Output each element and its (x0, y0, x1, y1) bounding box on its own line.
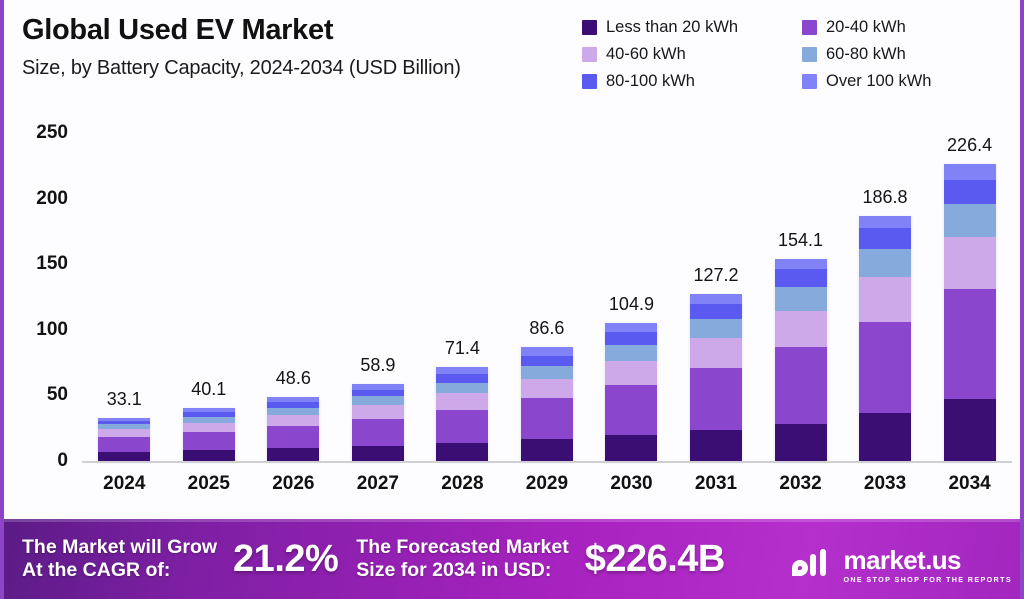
stacked-bar[interactable] (183, 408, 235, 461)
bar-segment-1[interactable] (98, 437, 150, 452)
bar-segment-2[interactable] (436, 393, 488, 409)
bar-total-label: 48.6 (251, 368, 335, 389)
bar-total-label: 154.1 (759, 230, 843, 251)
y-axis-tick-100: 100 (36, 319, 68, 341)
bar-segment-1[interactable] (521, 398, 573, 439)
bar-segment-3[interactable] (267, 408, 319, 415)
bar-segment-2[interactable] (521, 379, 573, 399)
x-axis-tick-2031: 2031 (674, 473, 758, 507)
chart-legend: Less than 20 kWh20-40 kWh40-60 kWh60-80 … (582, 14, 1012, 95)
bar-segment-0[interactable] (775, 424, 827, 461)
bar-total-label: 186.8 (843, 187, 927, 208)
bar-total-label: 58.9 (336, 355, 420, 376)
bar-segment-0[interactable] (859, 413, 911, 461)
legend-item-3[interactable]: 60-80 kWh (802, 41, 1008, 68)
bar-segment-3[interactable] (436, 383, 488, 394)
stacked-bar[interactable] (267, 397, 319, 461)
x-axis-tick-2025: 2025 (167, 473, 251, 507)
bar-total-label: 104.9 (589, 294, 673, 315)
axis-baseline (82, 461, 1012, 463)
legend-label: 20-40 kWh (826, 18, 906, 37)
bar-segment-4[interactable] (352, 390, 404, 397)
footer-banner: The Market will Grow At the CAGR of: 21.… (4, 519, 1024, 599)
bar-segment-2[interactable] (183, 423, 235, 432)
bar-segment-4[interactable] (605, 332, 657, 344)
legend-swatch-icon (582, 74, 597, 89)
bar-total-label: 71.4 (420, 338, 504, 359)
bar-segment-1[interactable] (944, 289, 996, 399)
legend-label: Over 100 kWh (826, 72, 931, 91)
bar-segment-4[interactable] (521, 356, 573, 366)
bar-segment-2[interactable] (775, 311, 827, 347)
bar-segment-0[interactable] (521, 439, 573, 461)
legend-label: 60-80 kWh (826, 45, 906, 64)
bar-segment-3[interactable] (859, 249, 911, 278)
legend-swatch-icon (802, 20, 817, 35)
bar-segment-4[interactable] (436, 374, 488, 382)
stacked-bar[interactable] (521, 347, 573, 461)
bar-segment-5[interactable] (859, 216, 911, 228)
bar-column-2028[interactable]: 71.4 (420, 133, 504, 461)
bar-total-label: 33.1 (82, 389, 166, 410)
bar-segment-3[interactable] (944, 204, 996, 237)
bar-segment-1[interactable] (436, 410, 488, 443)
bar-segment-2[interactable] (859, 277, 911, 322)
bar-column-2025[interactable]: 40.1 (167, 133, 251, 461)
stacked-bar[interactable] (690, 294, 742, 461)
cagr-caption-line2: At the CAGR of: (22, 559, 217, 582)
bar-segment-2[interactable] (944, 237, 996, 289)
bar-segment-0[interactable] (183, 450, 235, 461)
bar-segment-4[interactable] (690, 304, 742, 319)
bar-segment-2[interactable] (98, 429, 150, 436)
stacked-bar[interactable] (605, 323, 657, 461)
forecast-caption-line1: The Forecasted Market (356, 536, 568, 559)
page-title: Global Used EV Market (22, 14, 333, 47)
x-axis-tick-2029: 2029 (505, 473, 589, 507)
bar-segment-5[interactable] (605, 323, 657, 332)
bar-segment-1[interactable] (183, 432, 235, 450)
bar-total-label: 127.2 (674, 265, 758, 286)
legend-swatch-icon (802, 47, 817, 62)
x-axis-tick-2026: 2026 (251, 473, 335, 507)
bar-segment-3[interactable] (690, 319, 742, 338)
stacked-bar[interactable] (775, 259, 827, 461)
logo-name: market.us (843, 547, 1012, 573)
bar-segment-2[interactable] (267, 415, 319, 426)
bar-segment-0[interactable] (352, 446, 404, 461)
legend-item-1[interactable]: 20-40 kWh (802, 14, 1008, 41)
bar-segment-2[interactable] (605, 361, 657, 385)
logo-tagline: ONE STOP SHOP FOR THE REPORTS (843, 576, 1012, 583)
cagr-caption: The Market will Grow At the CAGR of: (22, 536, 217, 581)
y-axis-tick-250: 250 (36, 122, 68, 144)
x-axis-tick-2028: 2028 (420, 473, 504, 507)
x-axis-tick-2027: 2027 (336, 473, 420, 507)
bar-segment-0[interactable] (267, 448, 319, 461)
cagr-value: 21.2% (233, 538, 338, 581)
y-axis-tick-50: 50 (47, 384, 68, 406)
y-axis: 050100150200250 (4, 133, 76, 468)
bar-segment-3[interactable] (352, 396, 404, 405)
legend-swatch-icon (802, 74, 817, 89)
bar-column-2027[interactable]: 58.9 (336, 133, 420, 461)
bar-segment-3[interactable] (775, 287, 827, 311)
bar-segment-4[interactable] (775, 269, 827, 287)
forecast-caption: The Forecasted Market Size for 2034 in U… (356, 536, 568, 581)
stacked-bar[interactable] (352, 384, 404, 461)
stacked-bar[interactable] (944, 164, 996, 461)
cagr-caption-line1: The Market will Grow (22, 536, 217, 559)
bar-segment-1[interactable] (267, 426, 319, 448)
stacked-bar[interactable] (98, 418, 150, 461)
legend-label: 40-60 kWh (606, 45, 686, 64)
bar-segment-0[interactable] (98, 452, 150, 461)
infographic-root: Global Used EV Market Size, by Battery C… (0, 0, 1024, 599)
legend-item-4[interactable]: 80-100 kWh (582, 68, 788, 95)
legend-label: Less than 20 kWh (606, 18, 738, 37)
y-axis-tick-150: 150 (36, 253, 68, 275)
x-axis-tick-2032: 2032 (759, 473, 843, 507)
bar-segment-2[interactable] (352, 405, 404, 418)
bar-column-2032[interactable]: 154.1 (759, 133, 843, 461)
bar-column-2033[interactable]: 186.8 (843, 133, 927, 461)
y-axis-tick-200: 200 (36, 188, 68, 210)
bar-column-2034[interactable]: 226.4 (928, 133, 1012, 461)
bar-segment-2[interactable] (690, 338, 742, 368)
bar-segment-1[interactable] (352, 419, 404, 446)
bar-segment-1[interactable] (775, 347, 827, 424)
bar-segment-5[interactable] (436, 367, 488, 374)
bar-column-2030[interactable]: 104.9 (589, 133, 673, 461)
market-us-logo[interactable]: market.us ONE STOP SHOP FOR THE REPORTS (788, 547, 1012, 583)
bar-segment-4[interactable] (944, 180, 996, 204)
bar-segment-5[interactable] (775, 259, 827, 269)
logo-text: market.us ONE STOP SHOP FOR THE REPORTS (843, 547, 1012, 583)
bar-segment-1[interactable] (605, 385, 657, 435)
bar-segment-3[interactable] (605, 345, 657, 361)
bar-group: 33.140.148.658.971.486.6104.9127.2154.11… (82, 133, 1012, 461)
forecast-caption-line2: Size for 2034 in USD: (356, 559, 568, 582)
bar-segment-0[interactable] (690, 430, 742, 461)
bar-segment-1[interactable] (690, 368, 742, 430)
stacked-bar[interactable] (859, 216, 911, 461)
bar-segment-3[interactable] (521, 366, 573, 379)
y-axis-tick-0: 0 (57, 450, 68, 472)
bar-segment-0[interactable] (605, 435, 657, 461)
x-axis: 2024202520262027202820292030203120322033… (82, 473, 1012, 507)
bar-total-label: 86.6 (505, 318, 589, 339)
x-axis-tick-2033: 2033 (843, 473, 927, 507)
legend-item-0[interactable]: Less than 20 kWh (582, 14, 788, 41)
bar-segment-5[interactable] (944, 164, 996, 180)
bar-segment-4[interactable] (859, 228, 911, 249)
bar-segment-5[interactable] (690, 294, 742, 304)
forecast-value: $226.4B (585, 538, 725, 581)
bar-segment-0[interactable] (436, 443, 488, 461)
legend-label: 80-100 kWh (606, 72, 695, 91)
bar-column-2029[interactable]: 86.6 (505, 133, 589, 461)
legend-swatch-icon (582, 47, 597, 62)
legend-item-5[interactable]: Over 100 kWh (802, 68, 1008, 95)
legend-swatch-icon (582, 20, 597, 35)
page-subtitle: Size, by Battery Capacity, 2024-2034 (US… (22, 57, 461, 80)
bar-segment-1[interactable] (859, 322, 911, 413)
x-axis-tick-2034: 2034 (928, 473, 1012, 507)
bar-segment-5[interactable] (521, 347, 573, 355)
market-us-mark-icon (788, 547, 834, 582)
x-axis-tick-2024: 2024 (82, 473, 166, 507)
legend-item-2[interactable]: 40-60 kWh (582, 41, 788, 68)
bar-column-2026[interactable]: 48.6 (251, 133, 335, 461)
stacked-bar[interactable] (436, 367, 488, 461)
bar-column-2024[interactable]: 33.1 (82, 133, 166, 461)
bar-total-label: 40.1 (167, 379, 251, 400)
header: Global Used EV Market Size, by Battery C… (4, 0, 1024, 112)
bar-column-2031[interactable]: 127.2 (674, 133, 758, 461)
x-axis-tick-2030: 2030 (589, 473, 673, 507)
bar-total-label: 226.4 (928, 135, 1012, 156)
bar-segment-0[interactable] (944, 399, 996, 461)
